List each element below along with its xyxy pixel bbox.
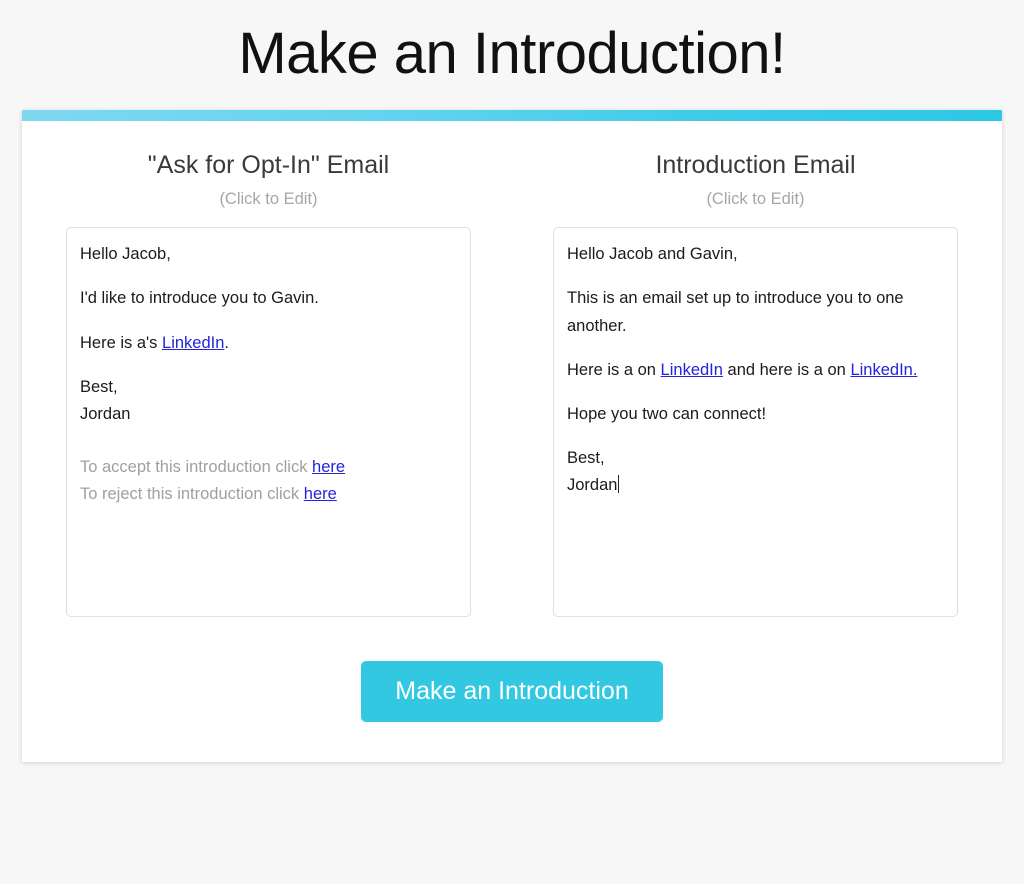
email-columns: "Ask for Opt-In" Email (Click to Edit) H… xyxy=(66,149,958,617)
opt-in-greeting: Hello Jacob, xyxy=(80,241,456,268)
introduction-email-edit-hint: (Click to Edit) xyxy=(553,190,958,210)
opt-in-linkedin-prefix: Here is a's xyxy=(80,334,162,352)
opt-in-linkedin-suffix: . xyxy=(224,334,229,352)
introduction-hope: Hope you two can connect! xyxy=(567,401,943,428)
page-title: Make an Introduction! xyxy=(0,0,1024,86)
opt-in-signoff: Best, xyxy=(80,374,456,401)
introduction-sign-name-line: Jordan xyxy=(567,472,943,499)
introduction-email-title: Introduction Email xyxy=(553,149,958,182)
card-wrapper: "Ask for Opt-In" Email (Click to Edit) H… xyxy=(22,86,1002,762)
introduction-email-body: Hello Jacob and Gavin, This is an email … xyxy=(567,241,943,500)
make-introduction-button[interactable]: Make an Introduction xyxy=(361,661,662,722)
accept-introduction-line: To accept this introduction click here xyxy=(80,454,456,481)
opt-in-accept-reject-notice: To accept this introduction click here T… xyxy=(80,454,456,508)
column-opt-in-email: "Ask for Opt-In" Email (Click to Edit) H… xyxy=(66,149,471,617)
opt-in-email-title: "Ask for Opt-In" Email xyxy=(66,149,471,182)
opt-in-linkedin-link[interactable]: LinkedIn xyxy=(162,334,224,352)
opt-in-email-body: Hello Jacob, I'd like to introduce you t… xyxy=(80,241,456,428)
submit-row: Make an Introduction xyxy=(66,661,958,722)
introduction-greeting: Hello Jacob and Gavin, xyxy=(567,241,943,268)
opt-in-linkedin-line: Here is a's LinkedIn. xyxy=(80,330,456,357)
introduction-card: "Ask for Opt-In" Email (Click to Edit) H… xyxy=(22,110,1002,762)
introduction-signoff: Best, xyxy=(567,445,943,472)
introduction-links-middle: and here is a on xyxy=(723,361,851,379)
column-introduction-email: Introduction Email (Click to Edit) Hello… xyxy=(553,149,958,617)
introduction-sign-name: Jordan xyxy=(567,476,617,494)
text-cursor-caret xyxy=(618,475,619,493)
opt-in-email-edit-hint: (Click to Edit) xyxy=(66,190,471,210)
accent-bar xyxy=(22,110,1002,121)
opt-in-sign-name: Jordan xyxy=(80,401,456,428)
accept-introduction-text: To accept this introduction click xyxy=(80,458,312,476)
introduction-email-editor[interactable]: Hello Jacob and Gavin, This is an email … xyxy=(553,227,958,617)
reject-introduction-line: To reject this introduction click here xyxy=(80,481,456,508)
accept-introduction-link[interactable]: here xyxy=(312,458,345,476)
introduction-intro: This is an email set up to introduce you… xyxy=(567,285,943,339)
card-body: "Ask for Opt-In" Email (Click to Edit) H… xyxy=(22,121,1002,762)
introduction-linkedin-line: Here is a on LinkedIn and here is a on L… xyxy=(567,357,943,384)
opt-in-email-editor[interactable]: Hello Jacob, I'd like to introduce you t… xyxy=(66,227,471,617)
introduction-links-prefix: Here is a on xyxy=(567,361,661,379)
reject-introduction-link[interactable]: here xyxy=(304,485,337,503)
opt-in-intro: I'd like to introduce you to Gavin. xyxy=(80,285,456,312)
introduction-linkedin-link-first[interactable]: LinkedIn xyxy=(661,361,723,379)
reject-introduction-text: To reject this introduction click xyxy=(80,485,304,503)
introduction-linkedin-link-second[interactable]: LinkedIn. xyxy=(850,361,917,379)
